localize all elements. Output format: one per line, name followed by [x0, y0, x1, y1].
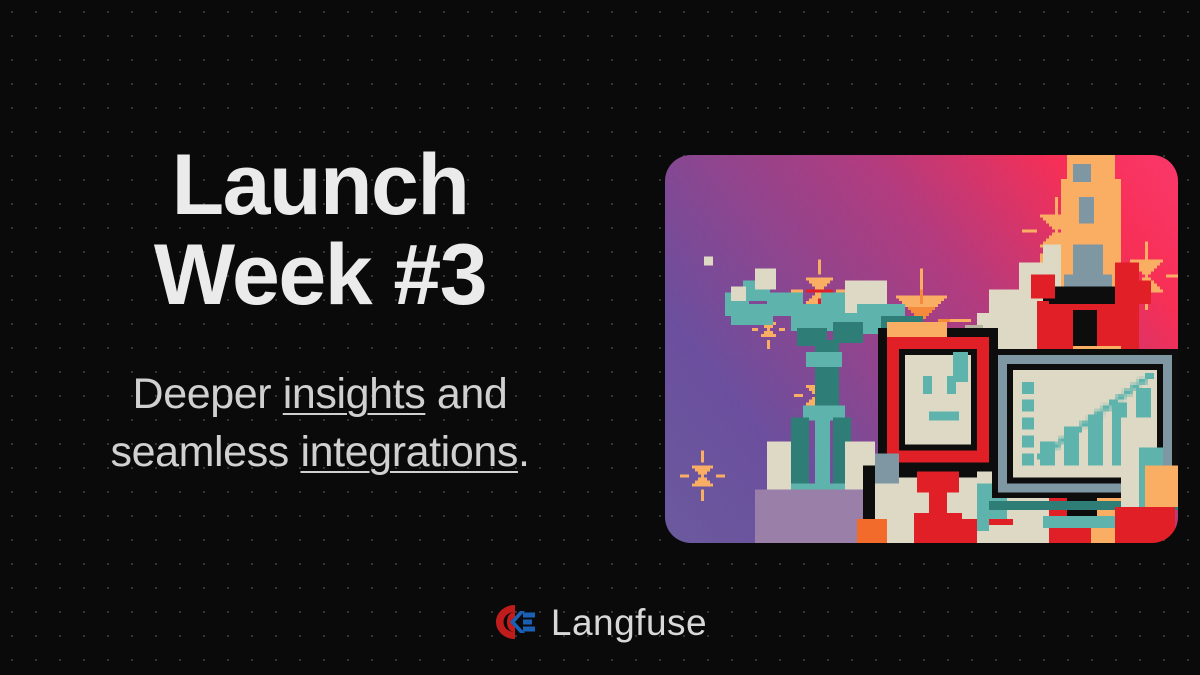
subtitle-text-post-2: .	[518, 428, 530, 476]
brand-lockup: Langfuse	[0, 602, 1200, 642]
subtitle-line-1: Deeper insights and	[133, 370, 508, 418]
hero-text-column: Launch Week #3 Deeper insights and seaml…	[0, 140, 640, 481]
brand-wordmark: Langfuse	[551, 604, 707, 641]
subtitle-highlight-integrations: integrations	[300, 428, 518, 476]
hero-subtitle: Deeper insights and seamless integration…	[0, 321, 640, 481]
subtitle-text-pre-1: Deeper	[133, 370, 283, 418]
subtitle-text-pre-2: seamless	[110, 428, 300, 476]
page-title: Launch Week #3	[0, 140, 640, 321]
pixel-art-space-scene	[665, 155, 1178, 543]
pixel-art-canvas	[665, 155, 1178, 543]
subtitle-text-post-1: and	[425, 370, 507, 418]
subtitle-line-2: seamless integrations.	[110, 428, 529, 476]
langfuse-logo-icon	[493, 602, 537, 642]
page-background: Launch Week #3 Deeper insights and seaml…	[0, 0, 1200, 675]
subtitle-highlight-insights: insights	[283, 370, 426, 418]
